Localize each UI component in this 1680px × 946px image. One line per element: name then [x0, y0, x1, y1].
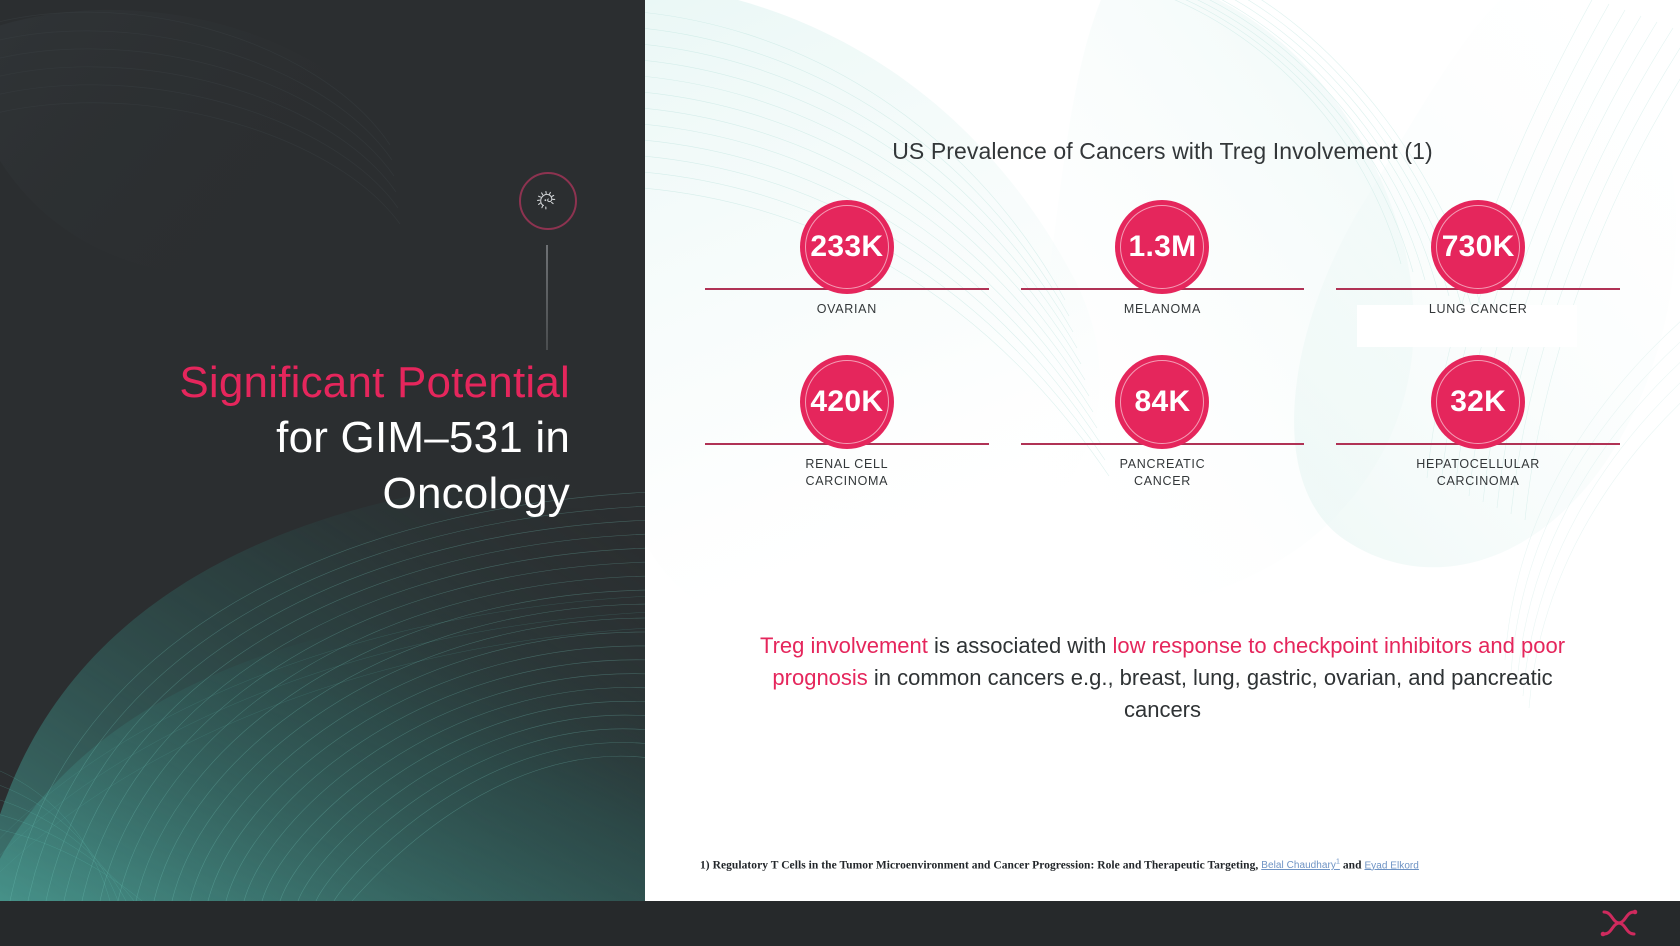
- footnote-author-link-1[interactable]: Belal Chaudhary1: [1261, 860, 1340, 871]
- metric-label: MELANOMA: [1021, 301, 1305, 318]
- metric-label-line: MELANOMA: [1021, 301, 1305, 318]
- metric-bubble: 32K: [1431, 355, 1525, 449]
- logo-stem-divider: [546, 245, 548, 350]
- metric-bubble: 730K: [1431, 200, 1525, 294]
- summary-statement: Treg involvement is associated with low …: [755, 630, 1570, 726]
- metric-label-line: OVARIAN: [705, 301, 989, 318]
- metric-label-line: RENAL CELL: [705, 456, 989, 473]
- footnote-conjunction: and: [1340, 859, 1365, 871]
- chart-title: US Prevalence of Cancers with Treg Invol…: [645, 138, 1680, 165]
- summary-plain-1: is associated with: [928, 633, 1113, 658]
- metric-value: 84K: [1135, 385, 1191, 419]
- metric-label: HEPATOCELLULAR CARCINOMA: [1336, 456, 1620, 490]
- microbe-icon: [519, 172, 577, 230]
- right-content-panel: US Prevalence of Cancers with Treg Invol…: [645, 0, 1680, 901]
- metric-label: RENAL CELL CARCINOMA: [705, 456, 989, 490]
- metric-label-line: PANCREATIC: [1021, 456, 1305, 473]
- metric-label-line: CARCINOMA: [705, 473, 989, 490]
- metric-card: 84K PANCREATIC CANCER: [1021, 355, 1305, 510]
- metric-value: 32K: [1450, 385, 1506, 419]
- metric-label: OVARIAN: [705, 301, 989, 318]
- left-title-panel: Significant Potential for GIM–531 in Onc…: [0, 0, 645, 901]
- metric-label: LUNG CANCER: [1336, 301, 1620, 318]
- metric-label-line: CANCER: [1021, 473, 1305, 490]
- headline-line-2: for GIM–531 in: [60, 410, 570, 465]
- summary-plain-2: in common cancers e.g., breast, lung, ga…: [868, 665, 1553, 722]
- metric-card: 32K HEPATOCELLULAR CARCINOMA: [1336, 355, 1620, 510]
- page-title: Significant Potential for GIM–531 in Onc…: [60, 355, 570, 521]
- metric-label-line: LUNG CANCER: [1336, 301, 1620, 318]
- metric-card: 1.3M MELANOMA: [1021, 200, 1305, 355]
- footnote-author-link-2[interactable]: Eyad Elkord: [1364, 860, 1418, 871]
- metric-label-line: CARCINOMA: [1336, 473, 1620, 490]
- footnote: 1) Regulatory T Cells in the Tumor Micro…: [700, 859, 1660, 871]
- metric-card: 730K LUNG CANCER: [1336, 200, 1620, 355]
- metric-bubble: 1.3M: [1115, 200, 1209, 294]
- metric-value: 1.3M: [1129, 230, 1197, 264]
- summary-highlight-1: Treg involvement: [760, 633, 928, 658]
- metric-label-line: HEPATOCELLULAR: [1336, 456, 1620, 473]
- metric-value: 420K: [810, 385, 883, 419]
- metric-bubble: 233K: [800, 200, 894, 294]
- footnote-text: 1) Regulatory T Cells in the Tumor Micro…: [700, 859, 1261, 871]
- metrics-grid: 233K OVARIAN 1.3M MELANOMA 730K: [705, 200, 1620, 510]
- footnote-author-1: Belal Chaudhary: [1261, 860, 1336, 871]
- metric-card: 420K RENAL CELL CARCINOMA: [705, 355, 989, 510]
- metric-bubble: 420K: [800, 355, 894, 449]
- presentation-slide: Significant Potential for GIM–531 in Onc…: [0, 0, 1680, 946]
- metric-label: PANCREATIC CANCER: [1021, 456, 1305, 490]
- brand-x-logo-icon: [1596, 906, 1642, 940]
- headline-line-1: Significant Potential: [60, 355, 570, 410]
- footer-bar: [0, 901, 1680, 946]
- metric-value: 730K: [1442, 230, 1515, 264]
- metric-bubble: 84K: [1115, 355, 1209, 449]
- metric-value: 233K: [810, 230, 883, 264]
- metric-card: 233K OVARIAN: [705, 200, 989, 355]
- headline-line-3: Oncology: [60, 466, 570, 521]
